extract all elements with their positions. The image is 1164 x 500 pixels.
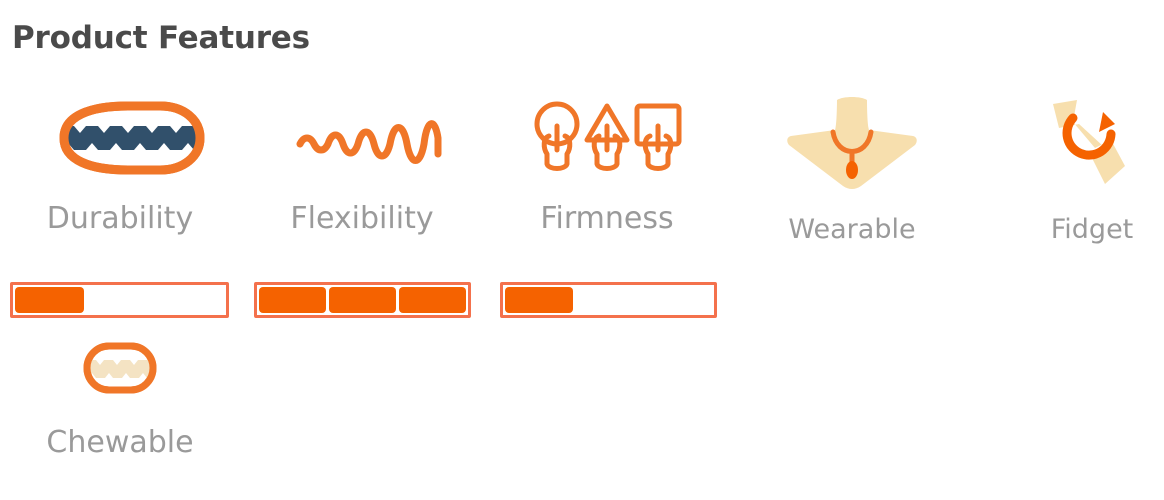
rating-segment-empty[interactable] xyxy=(87,287,224,313)
fidget-spinner-icon xyxy=(1037,96,1147,194)
rating-bar-firmness[interactable] xyxy=(500,282,717,318)
rating-segment-filled[interactable] xyxy=(329,287,396,313)
feature-wearable[interactable]: Wearable xyxy=(760,96,944,243)
firmness-shapes-press-icon xyxy=(519,96,695,184)
page-title: Product Features xyxy=(12,20,310,56)
rating-segment-empty[interactable] xyxy=(576,287,712,313)
feature-fidget[interactable]: Fidget xyxy=(1020,96,1164,243)
rating-bar-durability[interactable] xyxy=(10,282,229,318)
wearable-necklace-icon xyxy=(777,96,927,194)
feature-label-chewable: Chewable xyxy=(46,428,193,458)
feature-label-flexibility: Flexibility xyxy=(290,204,433,234)
feature-firmness[interactable]: Firmness xyxy=(498,96,716,234)
product-features-panel: Product Features Durability Flexibility xyxy=(0,0,1164,500)
feature-label-fidget: Fidget xyxy=(1051,216,1134,243)
feature-durability[interactable]: Durability xyxy=(10,96,230,234)
feature-label-wearable: Wearable xyxy=(788,216,915,243)
chewable-capsule-icon xyxy=(65,340,175,400)
flexibility-wave-icon xyxy=(274,96,450,184)
rating-segment-filled[interactable] xyxy=(15,287,84,313)
durability-teardrop-icon xyxy=(32,96,208,184)
rating-segment-filled[interactable] xyxy=(399,287,466,313)
feature-label-durability: Durability xyxy=(47,204,193,234)
feature-label-firmness: Firmness xyxy=(540,204,673,234)
feature-chewable[interactable]: Chewable xyxy=(10,340,230,458)
feature-flexibility[interactable]: Flexibility xyxy=(253,96,471,234)
rating-segment-filled[interactable] xyxy=(259,287,326,313)
rating-segment-filled[interactable] xyxy=(505,287,573,313)
rating-bar-flexibility[interactable] xyxy=(254,282,471,318)
